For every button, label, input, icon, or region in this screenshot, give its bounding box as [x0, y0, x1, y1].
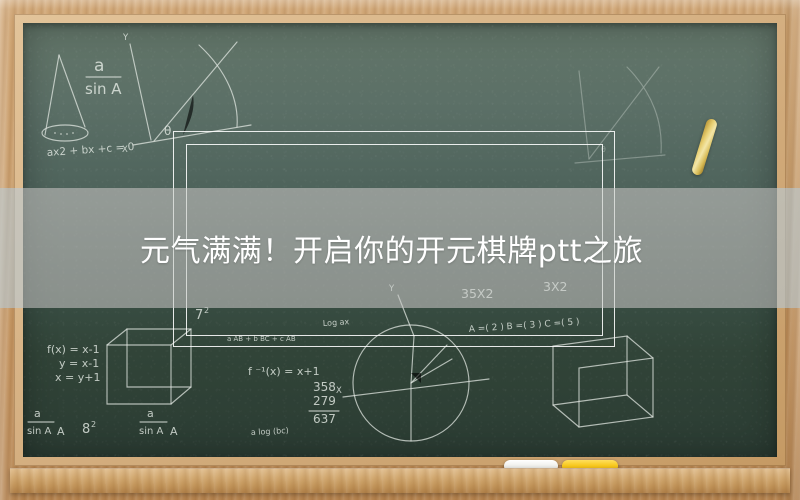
svg-text:358: 358: [313, 380, 336, 394]
svg-text:2: 2: [91, 420, 96, 429]
svg-text:279: 279: [313, 394, 336, 408]
chalk-tray-ledge: [10, 468, 790, 493]
wireframe-cube-right: [553, 336, 653, 427]
svg-text:X: X: [122, 145, 128, 155]
svg-text:637: 637: [313, 412, 336, 426]
function-equations-group: f(x) = x-1 y = x-1 x = y+1: [47, 343, 100, 384]
svg-text:f(x) = x-1: f(x) = x-1: [47, 343, 100, 356]
svg-text:a: a: [34, 407, 41, 420]
eight-squared: 8 2: [82, 420, 96, 437]
page-title: 元气满满！开启你的开元棋牌ptt之旅: [140, 188, 700, 308]
log-bc-expression: a log (bc): [251, 426, 289, 437]
cone-with-base-ellipse: [42, 55, 88, 141]
svg-text:a: a: [94, 56, 104, 76]
svg-text:x = y+1: x = y+1: [55, 371, 100, 384]
svg-text:θ: θ: [164, 124, 171, 138]
svg-text:8: 8: [82, 422, 90, 437]
svg-text:A: A: [57, 425, 65, 438]
svg-text:sin A: sin A: [85, 80, 122, 98]
svg-text:y = x-1: y = x-1: [59, 357, 99, 370]
law-of-sines-left: a sin A A: [27, 407, 65, 438]
law-of-sines-top: a sin A: [85, 56, 122, 98]
svg-text:a: a: [147, 407, 154, 420]
svg-text:sin A: sin A: [27, 426, 52, 437]
inverse-function-expression: f ⁻¹(x) = x+1: [248, 365, 320, 378]
svg-text:sin A: sin A: [139, 426, 164, 437]
svg-text:X: X: [336, 386, 342, 396]
svg-text:A: A: [170, 425, 178, 438]
blackboard-banner-image: a sin A ax2 + bx +c = 0 Y X θ: [0, 0, 800, 500]
law-of-sines-mid: a sin A A: [139, 407, 178, 438]
svg-text:Y: Y: [122, 33, 129, 43]
